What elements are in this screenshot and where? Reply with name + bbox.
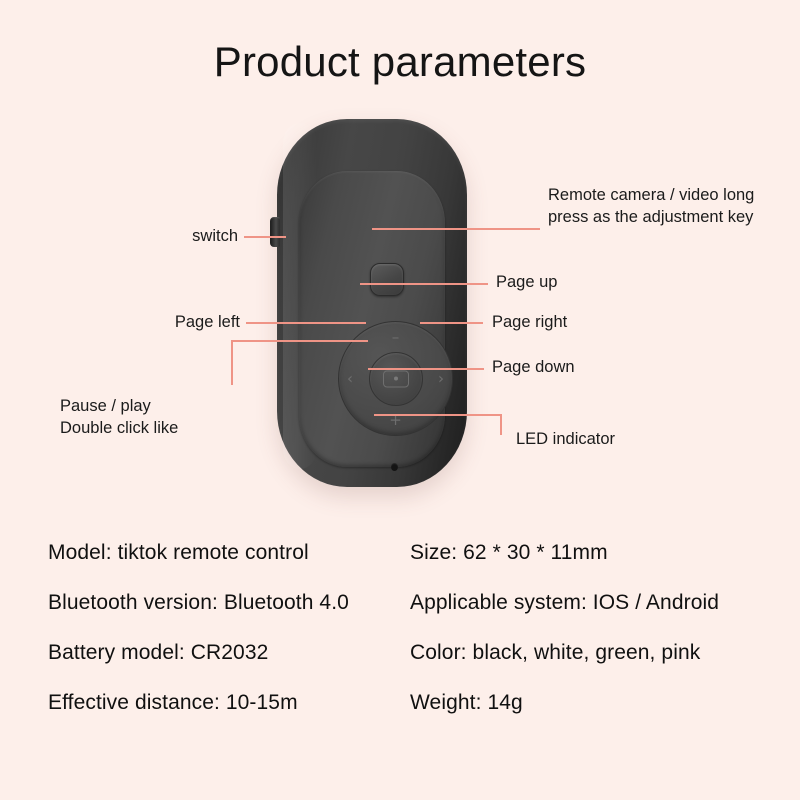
leader-line-remote-camera bbox=[372, 228, 540, 230]
leader-line-pause-play-vertical bbox=[231, 340, 233, 385]
leader-line-page-down bbox=[368, 368, 484, 370]
callout-led-indicator: LED indicator bbox=[516, 429, 696, 451]
camera-button[interactable] bbox=[370, 263, 404, 296]
callout-switch: switch bbox=[108, 226, 238, 248]
spec-color: Color: black, white, green, pink bbox=[410, 641, 768, 665]
callout-pause-play: Pause / play Double click like bbox=[60, 396, 240, 440]
leader-line-led-horizontal bbox=[374, 414, 501, 416]
device-faceplate: – + ‹ › bbox=[299, 171, 445, 467]
callout-page-up: Page up bbox=[496, 272, 676, 294]
callout-page-left: Page left bbox=[110, 312, 240, 334]
leader-line-page-left bbox=[246, 322, 366, 324]
spec-list: Model: tiktok remote control Size: 62 * … bbox=[48, 528, 768, 728]
leader-line-switch bbox=[244, 236, 286, 238]
callout-page-down: Page down bbox=[492, 357, 672, 379]
center-button[interactable] bbox=[369, 352, 423, 406]
spec-bluetooth-version: Bluetooth version: Bluetooth 4.0 bbox=[48, 591, 410, 615]
spec-model: Model: tiktok remote control bbox=[48, 541, 410, 565]
page-left-chevron-icon[interactable]: ‹ bbox=[347, 371, 353, 386]
spec-size: Size: 62 * 30 * 11mm bbox=[410, 541, 768, 565]
spec-weight: Weight: 14g bbox=[410, 691, 768, 715]
spec-battery-model: Battery model: CR2032 bbox=[48, 641, 410, 665]
spec-applicable-system: Applicable system: IOS / Android bbox=[410, 591, 768, 615]
product-infographic: Product parameters – + ‹ › bbox=[0, 0, 800, 800]
leader-line-page-up bbox=[360, 283, 488, 285]
camera-glyph-icon bbox=[383, 370, 409, 387]
led-indicator-dot bbox=[391, 463, 398, 471]
page-title: Product parameters bbox=[0, 38, 800, 86]
remote-control-device: – + ‹ › bbox=[277, 119, 467, 487]
page-right-chevron-icon[interactable]: › bbox=[438, 371, 444, 386]
leader-line-led-vertical bbox=[500, 414, 502, 435]
switch-nub[interactable] bbox=[270, 217, 280, 247]
leader-line-pause-play-horizontal bbox=[231, 340, 368, 342]
callout-remote-camera: Remote camera / video long press as the … bbox=[548, 185, 792, 229]
dpad[interactable]: – + ‹ › bbox=[338, 321, 453, 436]
spec-effective-distance: Effective distance: 10-15m bbox=[48, 691, 410, 715]
callout-page-right: Page right bbox=[492, 312, 672, 334]
leader-line-page-right bbox=[420, 322, 483, 324]
page-up-minus-icon[interactable]: – bbox=[392, 330, 400, 345]
